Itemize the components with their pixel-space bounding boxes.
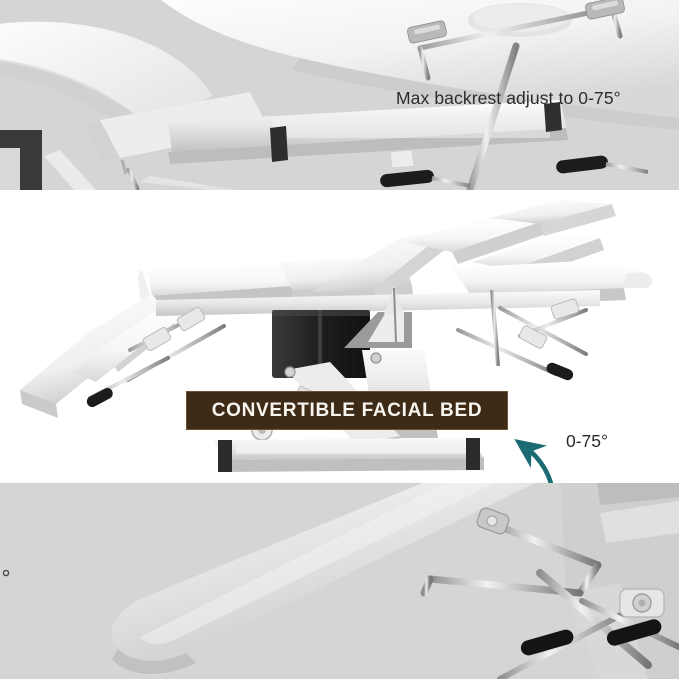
panel-footrest-closeup: Max footrest adjust to 0-45° bbox=[0, 483, 679, 679]
title-banner: CONVERTIBLE FACIAL BED bbox=[186, 391, 508, 430]
caption-backrest: Max backrest adjust to 0-75° bbox=[396, 88, 621, 109]
banner-title-text: CONVERTIBLE FACIAL BED bbox=[212, 400, 483, 422]
backrest-angle-arrow-icon bbox=[508, 430, 588, 483]
footrest-closeup-illustration bbox=[0, 483, 679, 679]
product-feature-image: Max backrest adjust to 0-75° bbox=[0, 0, 679, 679]
panel-backrest-closeup: Max backrest adjust to 0-75° bbox=[0, 0, 679, 190]
panel-full-bed: CONVERTIBLE FACIAL BED 0-75° 0-45° bbox=[0, 190, 679, 483]
